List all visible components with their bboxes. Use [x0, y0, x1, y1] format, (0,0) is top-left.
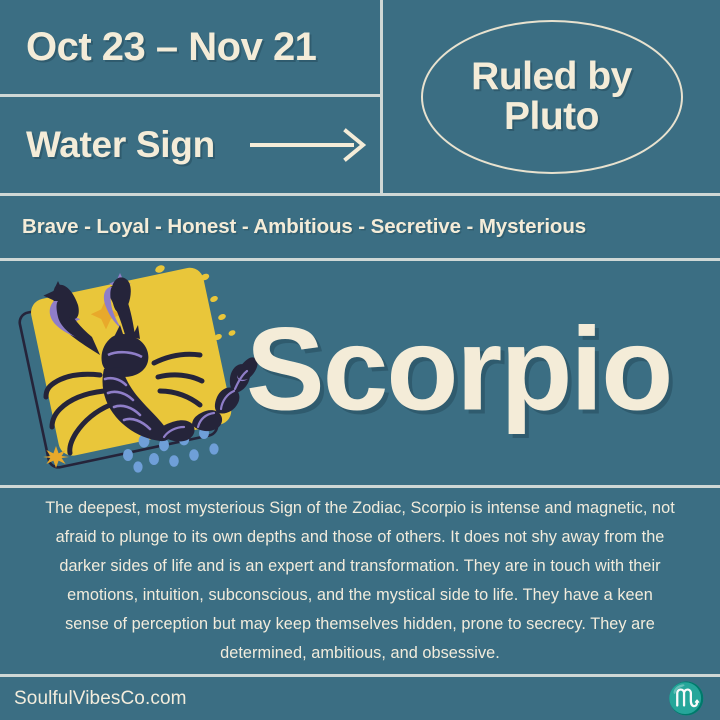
- scorpio-glyph-icon: ♏: [667, 682, 706, 713]
- description-section: The deepest, most mysterious Sign of the…: [0, 488, 720, 674]
- divider-date-element: [0, 94, 380, 97]
- hero-section: Scorpio: [0, 259, 720, 485]
- footer: SoulfulVibesCo.com ♏: [0, 677, 720, 720]
- date-range-text: Oct 23 – Nov 21: [26, 25, 316, 70]
- element-label: Water Sign: [26, 124, 215, 166]
- vertical-divider: [380, 0, 383, 193]
- description-text: The deepest, most mysterious Sign of the…: [44, 494, 676, 668]
- ruled-by-label: Ruled by: [471, 57, 632, 97]
- ruling-planet-cell: Ruled by Pluto: [383, 0, 720, 193]
- website-link[interactable]: SoulfulVibesCo.com: [14, 688, 187, 710]
- arrow-right-icon: [250, 128, 368, 162]
- date-range-cell: Oct 23 – Nov 21: [0, 0, 380, 94]
- scorpion-illustration: [8, 259, 258, 485]
- sign-name: Scorpio: [246, 311, 671, 429]
- traits-text: Brave - Loyal - Honest - Ambitious - Sec…: [22, 215, 586, 239]
- ruling-planet-name: Pluto: [504, 97, 599, 137]
- ruling-planet-oval: Ruled by Pluto: [421, 20, 683, 174]
- scorpio-zodiac-card: Oct 23 – Nov 21 Water Sign Ruled by Plut…: [0, 0, 720, 720]
- traits-band: Brave - Loyal - Honest - Ambitious - Sec…: [0, 196, 720, 258]
- element-cell: Water Sign: [0, 97, 380, 193]
